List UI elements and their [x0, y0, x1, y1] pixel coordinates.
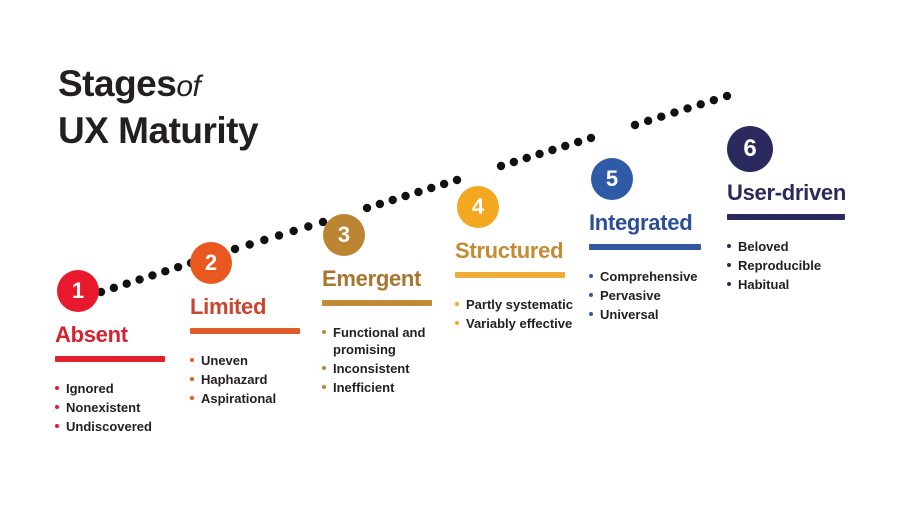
stage-attribute-list-3: Functional and promisingInconsistentInef… — [322, 324, 444, 398]
connector-dot — [697, 100, 705, 108]
connector-dot — [644, 117, 652, 125]
stage-divider-6 — [727, 214, 845, 220]
title-line-1: Stagesof — [58, 62, 458, 109]
stage-title-5: Integrated — [589, 210, 692, 236]
stage-title-6: User-driven — [727, 180, 846, 206]
bullet-dot-icon — [322, 385, 326, 389]
bullet-dot-icon — [727, 282, 731, 286]
list-item: Beloved — [727, 238, 857, 255]
connector-dot — [260, 236, 268, 244]
stage-attribute-list-5: ComprehensivePervasiveUniversal — [589, 268, 713, 325]
list-item: Aspirational — [190, 390, 312, 407]
list-item: Inconsistent — [322, 360, 444, 377]
list-item-label: Inconsistent — [333, 361, 410, 376]
stage-number-badge-5[interactable]: 5 — [591, 158, 633, 200]
list-item: Pervasive — [589, 287, 713, 304]
connector-dot — [363, 204, 371, 212]
list-item-label: Ignored — [66, 381, 114, 396]
bullet-dot-icon — [55, 424, 59, 428]
connector-dot — [710, 96, 718, 104]
connector-dot — [523, 154, 531, 162]
list-item: Reproducible — [727, 257, 857, 274]
title-word-of: of — [176, 70, 200, 103]
bullet-dot-icon — [190, 396, 194, 400]
connector-dot — [148, 271, 156, 279]
connector-dot — [440, 180, 448, 188]
bullet-dot-icon — [455, 302, 459, 306]
stage-attribute-list-1: IgnoredNonexistentUndiscovered — [55, 380, 177, 437]
connector-dot — [657, 113, 665, 121]
connector-dot — [631, 121, 639, 129]
stage-number-badge-4[interactable]: 4 — [457, 186, 499, 228]
bullet-dot-icon — [190, 358, 194, 362]
list-item: Partly systematic — [455, 296, 577, 313]
connector-dot — [161, 267, 169, 275]
connector-dot — [561, 142, 569, 150]
list-item-label: Partly systematic — [466, 297, 573, 312]
connector-dot — [245, 240, 253, 248]
connector-dot — [135, 275, 143, 283]
stage-number-badge-3[interactable]: 3 — [323, 214, 365, 256]
list-item-label: Variably effective — [466, 316, 572, 331]
list-item: Universal — [589, 306, 713, 323]
bullet-dot-icon — [589, 274, 593, 278]
connector-dot — [376, 200, 384, 208]
connector-dot — [683, 104, 691, 112]
connector-dot — [497, 162, 505, 170]
bullet-dot-icon — [589, 293, 593, 297]
list-item-label: Pervasive — [600, 288, 661, 303]
stage-divider-3 — [322, 300, 432, 306]
list-item-label: Reproducible — [738, 258, 821, 273]
stage-divider-5 — [589, 244, 701, 250]
list-item-label: Comprehensive — [600, 269, 698, 284]
list-item-label: Beloved — [738, 239, 789, 254]
stage-divider-2 — [190, 328, 300, 334]
bullet-dot-icon — [322, 366, 326, 370]
list-item-label: Haphazard — [201, 372, 267, 387]
list-item: Uneven — [190, 352, 312, 369]
connector-dot — [453, 176, 461, 184]
title-word-stages: Stages — [58, 63, 176, 104]
list-item-label: Inefficient — [333, 380, 394, 395]
bullet-dot-icon — [190, 377, 194, 381]
bullet-dot-icon — [589, 312, 593, 316]
connector-dot — [587, 134, 595, 142]
connector-dot — [304, 222, 312, 230]
connector-dot — [174, 263, 182, 271]
bullet-dot-icon — [55, 386, 59, 390]
connector-dot — [414, 188, 422, 196]
connector-dot — [123, 280, 131, 288]
connector-dot — [510, 158, 518, 166]
list-item-label: Functional and promising — [333, 325, 425, 357]
list-item: Inefficient — [322, 379, 444, 396]
list-item-label: Uneven — [201, 353, 248, 368]
stage-title-1: Absent — [55, 322, 128, 348]
connector-dot — [110, 284, 118, 292]
stage-number-badge-1[interactable]: 1 — [57, 270, 99, 312]
list-item-label: Nonexistent — [66, 400, 140, 415]
connector-dot — [275, 231, 283, 239]
list-item: Comprehensive — [589, 268, 713, 285]
connector-dot — [723, 92, 731, 100]
list-item: Nonexistent — [55, 399, 177, 416]
bullet-dot-icon — [322, 330, 326, 334]
stage-title-3: Emergent — [322, 266, 421, 292]
connector-dot — [670, 108, 678, 116]
list-item: Undiscovered — [55, 418, 177, 435]
stage-attribute-list-4: Partly systematicVariably effective — [455, 296, 577, 334]
bullet-dot-icon — [55, 405, 59, 409]
list-item: Functional and promising — [322, 324, 444, 358]
connector-dot — [548, 146, 556, 154]
bullet-dot-icon — [727, 263, 731, 267]
stage-divider-1 — [55, 356, 165, 362]
stage-title-4: Structured — [455, 238, 563, 264]
connector-dot — [574, 138, 582, 146]
stage-divider-4 — [455, 272, 565, 278]
stage-attribute-list-2: UnevenHaphazardAspirational — [190, 352, 312, 409]
infographic-canvas: Stagesof UX Maturity 1AbsentIgnoredNonex… — [0, 0, 902, 523]
stage-title-2: Limited — [190, 294, 266, 320]
connector-dot — [231, 245, 239, 253]
list-item-label: Habitual — [738, 277, 789, 292]
list-item: Habitual — [727, 276, 857, 293]
connector-dot — [401, 192, 409, 200]
connector-dot — [389, 196, 397, 204]
bullet-dot-icon — [455, 321, 459, 325]
list-item: Ignored — [55, 380, 177, 397]
bullet-dot-icon — [727, 244, 731, 248]
connector-dot — [535, 150, 543, 158]
list-item-label: Universal — [600, 307, 659, 322]
list-item-label: Undiscovered — [66, 419, 152, 434]
stage-attribute-list-6: BelovedReproducibleHabitual — [727, 238, 857, 295]
list-item-label: Aspirational — [201, 391, 276, 406]
connector-dot — [289, 227, 297, 235]
title-line-2: UX Maturity — [58, 109, 458, 153]
list-item: Variably effective — [455, 315, 577, 332]
list-item: Haphazard — [190, 371, 312, 388]
stage-number-badge-6[interactable]: 6 — [727, 126, 773, 172]
page-title: Stagesof UX Maturity — [58, 62, 458, 153]
connector-dot — [427, 184, 435, 192]
stage-number-badge-2[interactable]: 2 — [190, 242, 232, 284]
